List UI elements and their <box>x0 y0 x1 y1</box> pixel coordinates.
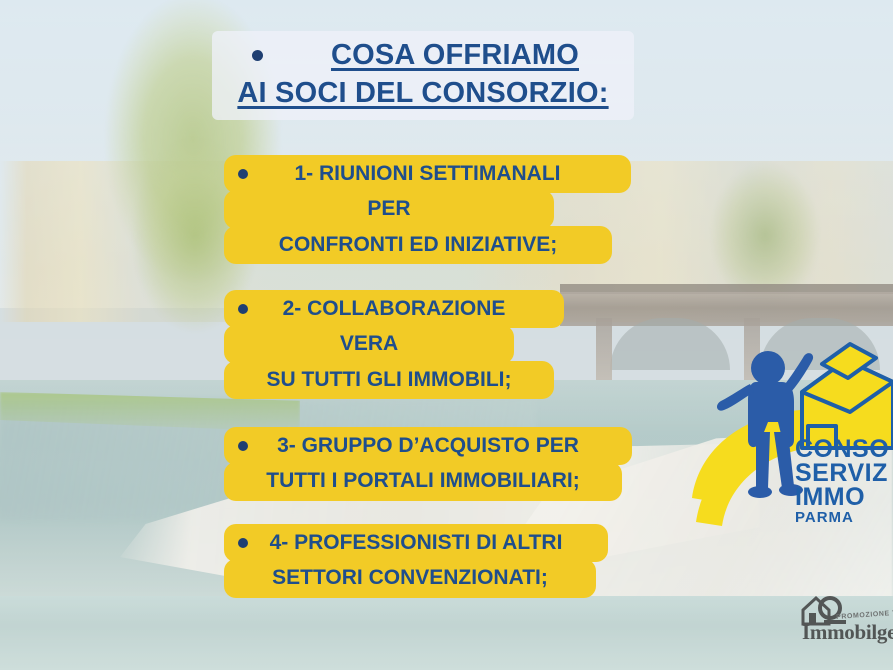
offer-item-2-line-1: 2- COLLABORAZIONE <box>224 290 564 328</box>
company-logo: CONSO SERVIZ IMMO PARMA <box>690 320 893 540</box>
offer-item-2: 2- COLLABORAZIONE VERA SU TUTTI GLI IMMO… <box>224 290 564 399</box>
offer-item-3-line-1: 3- GRUPPO D’ACQUISTO PER <box>224 427 632 465</box>
title-line-1-text: COSA OFFRIAMO <box>331 39 579 71</box>
offer-item-3: 3- GRUPPO D’ACQUISTO PER TUTTI I PORTALI… <box>224 427 632 501</box>
logo-house-icon <box>802 344 893 448</box>
offer-item-4-line-2: SETTORI CONVENZIONATI; <box>224 559 596 597</box>
watermark-brand: Immobilge <box>802 620 893 645</box>
background-bridge-pier-1 <box>596 318 612 380</box>
bullet-dot-icon <box>238 538 248 548</box>
offer-item-2-line-3-text: SU TUTTI GLI IMMOBILI; <box>267 368 512 391</box>
logo-wordmark: CONSO SERVIZ IMMO PARMA <box>795 438 893 526</box>
offer-item-2-line-2: VERA <box>224 325 514 363</box>
offer-item-2-line-2-text: VERA <box>340 332 398 355</box>
offer-item-4-line-1-text: 4- PROFESSIONISTI DI ALTRI <box>270 531 563 554</box>
title-line-1: COSA OFFRIAMO <box>294 37 626 75</box>
offer-item-3-line-2: TUTTI I PORTALI IMMOBILIARI; <box>224 462 622 500</box>
offer-item-1-line-3-text: CONFRONTI ED INIZIATIVE; <box>279 233 557 256</box>
background-river-foreground <box>0 596 893 670</box>
title-line-2: AI SOCI DEL CONSORZIO: <box>220 75 626 113</box>
offer-item-1-line-2-text: PER <box>367 197 410 220</box>
offer-item-4: 4- PROFESSIONISTI DI ALTRI SETTORI CONVE… <box>224 524 608 598</box>
logo-word-servizi: SERVIZ <box>795 462 893 486</box>
slide-canvas: COSA OFFRIAMO AI SOCI DEL CONSORZIO: 1- … <box>0 0 893 670</box>
slide-title-block: COSA OFFRIAMO AI SOCI DEL CONSORZIO: <box>212 31 634 120</box>
offer-item-2-line-3: SU TUTTI GLI IMMOBILI; <box>224 361 554 399</box>
offer-item-1-line-2: PER <box>224 190 554 228</box>
immobilgest-watermark: PROMOZIONE VENDIT Immobilge <box>800 594 893 650</box>
bullet-dot-icon <box>252 50 263 61</box>
logo-word-immobiliari: IMMO <box>795 486 893 510</box>
offer-item-3-line-1-text: 3- GRUPPO D’ACQUISTO PER <box>277 434 579 457</box>
offer-item-4-line-1: 4- PROFESSIONISTI DI ALTRI <box>224 524 608 562</box>
bullet-dot-icon <box>238 304 248 314</box>
offer-item-1-line-1-text: 1- RIUNIONI SETTIMANALI <box>295 162 561 185</box>
title-bullet-cell <box>220 50 294 61</box>
logo-word-parma: PARMA <box>795 511 893 525</box>
bullet-dot-icon <box>238 441 248 451</box>
title-row-first: COSA OFFRIAMO <box>220 37 626 75</box>
offer-item-1: 1- RIUNIONI SETTIMANALI PER CONFRONTI ED… <box>224 155 631 264</box>
title-line-2-text: AI SOCI DEL CONSORZIO: <box>237 77 608 109</box>
offer-item-2-line-1-text: 2- COLLABORAZIONE <box>283 297 506 320</box>
offer-item-1-line-1: 1- RIUNIONI SETTIMANALI <box>224 155 631 193</box>
offer-item-1-line-3: CONFRONTI ED INIZIATIVE; <box>224 226 612 264</box>
offer-item-3-line-2-text: TUTTI I PORTALI IMMOBILIARI; <box>266 469 579 492</box>
bullet-dot-icon <box>238 169 248 179</box>
offer-item-4-line-2-text: SETTORI CONVENZIONATI; <box>272 566 548 589</box>
